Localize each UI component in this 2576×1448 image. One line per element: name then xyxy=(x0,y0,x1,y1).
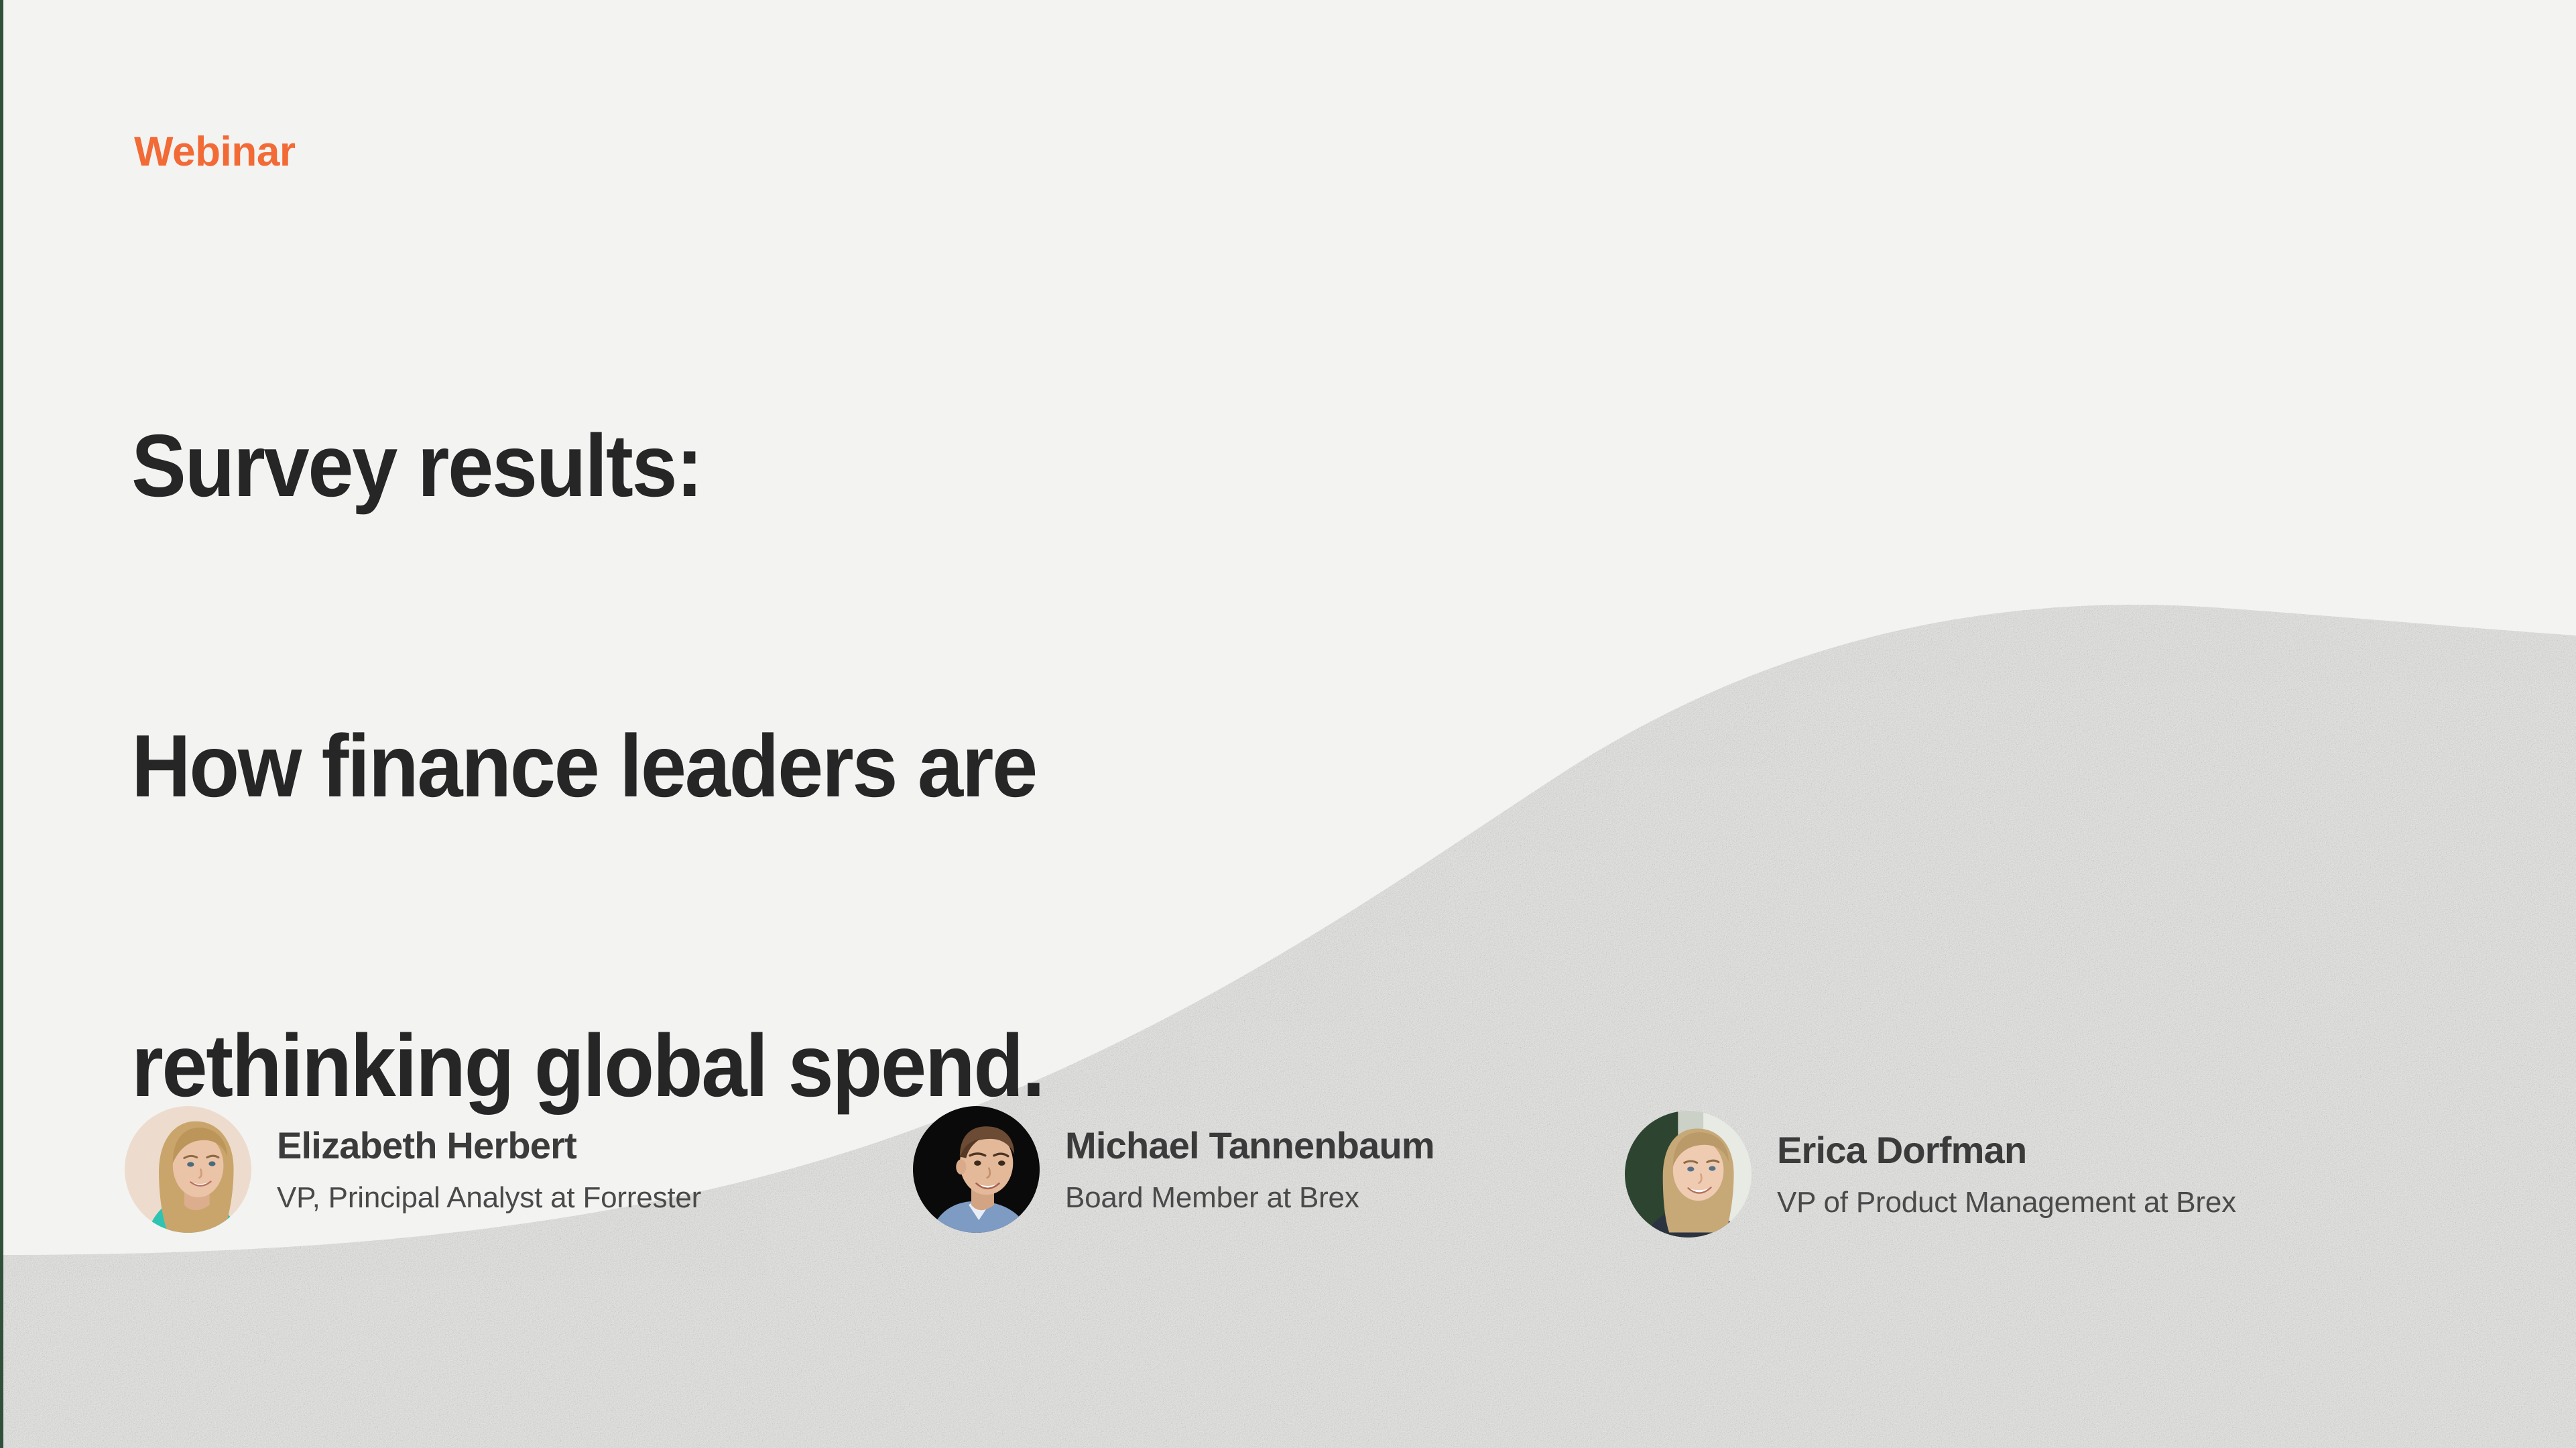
webinar-title-slide: Webinar Survey results: How finance lead… xyxy=(0,0,2576,1448)
headline-line-2: How finance leaders are xyxy=(131,716,1044,816)
speaker-text-erica-dorfman: Erica Dorfman VP of Product Management a… xyxy=(1777,1129,2236,1220)
speaker-text-elizabeth-herbert: Elizabeth Herbert VP, Principal Analyst … xyxy=(277,1124,701,1215)
speaker-name: Erica Dorfman xyxy=(1777,1129,2236,1172)
left-edge-strip xyxy=(0,0,3,1448)
speaker-role: Board Member at Brex xyxy=(1065,1181,1434,1215)
eyebrow-label: Webinar xyxy=(134,131,296,173)
speaker-role: VP of Product Management at Brex xyxy=(1777,1185,2236,1219)
avatar-erica-dorfman xyxy=(1625,1111,1752,1238)
speaker-text-michael-tannenbaum: Michael Tannenbaum Board Member at Brex xyxy=(1065,1124,1434,1215)
avatar-michael-tannenbaum xyxy=(913,1106,1040,1233)
avatar-elizabeth-herbert xyxy=(125,1106,251,1233)
speaker-name: Michael Tannenbaum xyxy=(1065,1124,1434,1168)
speaker-card-erica-dorfman: Erica Dorfman VP of Product Management a… xyxy=(1625,1111,2236,1238)
speaker-card-michael-tannenbaum: Michael Tannenbaum Board Member at Brex xyxy=(913,1106,1434,1233)
speaker-name: Elizabeth Herbert xyxy=(277,1124,701,1168)
headline-line-1: Survey results: xyxy=(131,416,1044,516)
headline-line-3: rethinking global spend. xyxy=(131,1016,1044,1115)
speaker-role: VP, Principal Analyst at Forrester xyxy=(277,1181,701,1215)
speaker-card-elizabeth-herbert: Elizabeth Herbert VP, Principal Analyst … xyxy=(125,1106,701,1233)
